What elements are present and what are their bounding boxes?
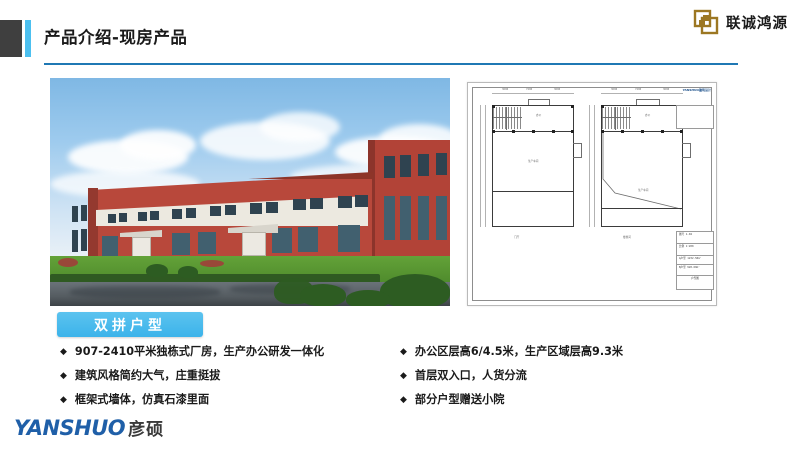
list-item-text: 首层双入口，人货分流 [415, 368, 527, 383]
window [400, 155, 411, 177]
plan-canopy [528, 99, 529, 105]
plan-partition [615, 107, 616, 130]
plan-dimension-line [589, 105, 590, 227]
window [418, 154, 429, 176]
plan-column [492, 130, 495, 133]
plan-canopy [636, 99, 660, 100]
window [172, 233, 190, 255]
diamond-bullet-icon: ◆ [60, 392, 67, 407]
shrub [178, 266, 198, 278]
window [400, 196, 411, 240]
window [225, 205, 236, 215]
window [355, 195, 368, 207]
window [293, 199, 306, 210]
floorplan-drawing: YANSHUO建筑设计 3600 7200 3600 生产车间 办公 [467, 82, 717, 306]
plan-dimension-line [601, 93, 683, 94]
flower-bed [200, 260, 224, 267]
corporate-logo-name: 联诚鸿源 [726, 12, 788, 33]
building-photo [50, 78, 450, 306]
plan-partition [506, 107, 507, 130]
feature-list-right: ◆ 办公区层高6/4.5米，生产区域层高9.3米 ◆ 首层双入口，人货分流 ◆ … [400, 344, 740, 416]
plan-column [532, 130, 535, 133]
list-item-text: 办公区层高6/4.5米，生产区域层高9.3米 [415, 344, 623, 359]
building-roofline [90, 172, 373, 179]
plan-dimension-line [480, 105, 481, 227]
interlocking-squares-icon [692, 8, 720, 36]
window [384, 156, 395, 178]
header-dark-block [0, 20, 22, 57]
diamond-bullet-icon: ◆ [400, 392, 407, 407]
plan-dim-label: 3600 [554, 88, 560, 91]
window [338, 225, 360, 252]
plan-dim-label: 7200 [635, 88, 641, 91]
footer-logo-chinese: 彦硕 [128, 415, 164, 440]
unit-type-badge-label: 双拼户型 [94, 315, 166, 335]
plan-wall [492, 191, 574, 192]
feature-list-left: ◆ 907-2410平米独栋式厂房，生产办公研发一体化 ◆ 建筑风格简约大气，庄… [60, 344, 400, 416]
plan-door-swing [690, 143, 691, 157]
window [108, 214, 116, 223]
plan-hatch-core [602, 107, 632, 129]
plan-partition [602, 117, 631, 118]
footer-logo: YANSHUO 彦硕 [14, 415, 164, 440]
titleblock-row-title: 户型图 [676, 275, 714, 290]
plan-dimension-line [492, 93, 574, 94]
plan-door-swing [581, 143, 582, 157]
window [172, 209, 182, 219]
plan-courtyard-outline [601, 131, 683, 227]
floorplan-logo: YANSHUO建筑设计 [683, 88, 711, 92]
plan-column [512, 130, 515, 133]
titleblock-header [676, 105, 714, 129]
shrub [380, 274, 450, 306]
plan-dim-label: 7200 [526, 88, 532, 91]
plan-door-swing [573, 157, 582, 158]
list-item: ◆ 首层双入口，人货分流 [400, 368, 740, 383]
plan-room-label: 生产车间 [528, 159, 538, 163]
plan-hatch-core [493, 107, 523, 129]
window [198, 232, 216, 254]
plan-wall [573, 105, 574, 227]
window [250, 203, 262, 214]
plan-door-swing [682, 157, 691, 158]
road-shadow [70, 286, 220, 298]
plan-dim-label: 3600 [502, 88, 508, 91]
window [81, 229, 87, 251]
plan-view-caption: 楼梯间 [623, 235, 631, 239]
window [310, 198, 323, 209]
list-item: ◆ 框架式墙体，仿真石漆里面 [60, 392, 400, 407]
slide-root: 产品介绍-现房产品 联诚鸿源 [0, 0, 800, 450]
window [138, 212, 147, 221]
window [266, 202, 278, 213]
window [119, 213, 127, 222]
plan-partition [493, 117, 522, 118]
corporate-logo: 联诚鸿源 [692, 8, 788, 36]
header-blue-bar [25, 20, 31, 57]
list-item: ◆ 建筑风格简约大气，庄重挺拔 [60, 368, 400, 383]
plan-wall [492, 105, 574, 106]
plan-canopy [659, 99, 660, 105]
window [210, 206, 221, 216]
plan-column [492, 105, 495, 108]
unit-type-badge: 双拼户型 [57, 312, 203, 337]
list-item-text: 部分户型赠送小院 [415, 392, 505, 407]
plan-wall [601, 105, 683, 106]
page-title: 产品介绍-现房产品 [44, 24, 187, 48]
plan-dim-label: 3600 [611, 88, 617, 91]
window [418, 196, 429, 240]
list-item-text: 907-2410平米独栋式厂房，生产办公研发一体化 [75, 344, 324, 359]
window [102, 236, 118, 256]
flower-bed [58, 258, 78, 267]
window [384, 196, 395, 240]
window [298, 227, 318, 252]
window [150, 211, 159, 220]
list-item: ◆ 部分户型赠送小院 [400, 392, 740, 407]
building-render [50, 78, 450, 306]
plan-canopy [549, 99, 550, 105]
plan-dimension-line [485, 105, 486, 227]
plan-column [571, 105, 574, 108]
plan-column [601, 105, 604, 108]
list-item: ◆ 907-2410平米独栋式厂房，生产办公研发一体化 [60, 344, 400, 359]
plan-room-label: 生产车间 [638, 188, 648, 192]
plan-view-caption: 门厅 [514, 235, 519, 239]
window [81, 205, 87, 221]
footer-logo-english: YANSHUO [14, 416, 125, 440]
window [72, 230, 78, 252]
window [338, 196, 352, 208]
plan-dim-label: 3600 [663, 88, 669, 91]
window [72, 206, 78, 222]
window [186, 208, 196, 218]
plan-canopy [528, 99, 550, 100]
window [436, 196, 447, 240]
plan-room-label: 办公 [536, 113, 541, 117]
list-item: ◆ 办公区层高6/4.5米，生产区域层高9.3米 [400, 344, 740, 359]
shrub [346, 290, 390, 306]
diamond-bullet-icon: ◆ [400, 368, 407, 383]
plan-column [571, 130, 574, 133]
plan-room-label: 办公 [645, 113, 650, 117]
list-item-text: 建筑风格简约大气，庄重挺拔 [75, 368, 220, 383]
plan-canopy [636, 99, 637, 105]
plan-column [552, 130, 555, 133]
shrub [300, 284, 346, 306]
list-item-text: 框架式墙体，仿真石漆里面 [75, 392, 209, 407]
plan-wall [601, 208, 683, 209]
plan-wall [492, 226, 574, 227]
window [436, 153, 447, 175]
diamond-bullet-icon: ◆ [60, 344, 67, 359]
diamond-bullet-icon: ◆ [400, 344, 407, 359]
plan-dimension-line [594, 105, 595, 227]
header-divider-rule [44, 63, 738, 65]
diamond-bullet-icon: ◆ [60, 368, 67, 383]
shrub [146, 264, 168, 277]
entrance-door [242, 232, 266, 256]
